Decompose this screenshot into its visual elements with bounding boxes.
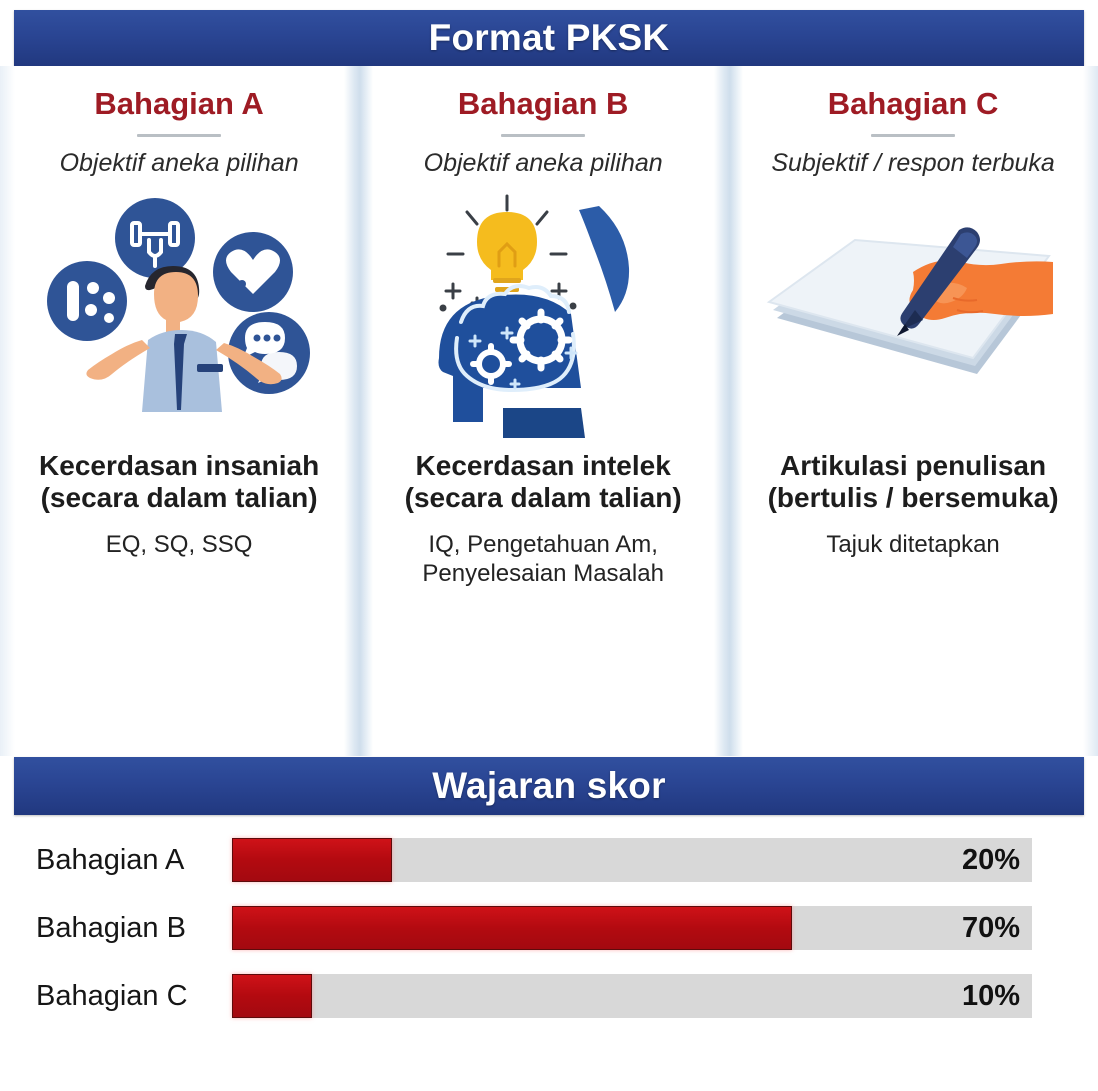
column-c-divider [871,134,955,137]
wajaran-skor-banner: Wajaran skor [14,757,1084,815]
left-edge-gradient [0,66,15,756]
column-b-note: IQ, Pengetahuan Am, Penyelesaian Masalah [387,531,700,589]
column-a-note: EQ, SQ, SSQ [29,531,330,560]
person-with-skill-icons-icon [29,188,329,438]
bar-row: Bahagian C 10% [0,972,1098,1020]
column-c-illustration [757,182,1070,444]
column-bahagian-c: Bahagian C Subjektif / respon terbuka [743,66,1084,756]
format-columns: Bahagian A Objektif aneka pilihan [0,66,1098,756]
bar-value-a: 20% [962,838,1020,882]
column-b-divider [501,134,585,137]
bar-label-a: Bahagian A [36,844,232,877]
bar-row: Bahagian A 20% [0,836,1098,884]
page-title: Format PKSK [429,17,670,59]
column-b-heading: Kecerdasan intelek (secara dalam talian) [387,450,700,516]
hand-writing-on-paper-icon [763,198,1063,428]
bar-fill-c [232,974,312,1018]
column-a-heading: Kecerdasan insaniah (secara dalam talian… [29,450,330,516]
bar-row: Bahagian B 70% [0,904,1098,952]
column-c-note: Tajuk ditetapkan [757,531,1070,560]
title-banner: Format PKSK [14,10,1084,66]
bar-track-b: 70% [232,906,1032,950]
bar-value-c: 10% [962,974,1020,1018]
column-c-subtitle: Subjektif / respon terbuka [757,148,1070,178]
bar-label-b: Bahagian B [36,912,232,945]
column-a-illustration [29,182,330,444]
gutter-a-b [344,66,373,756]
column-b-subtitle: Objektif aneka pilihan [387,148,700,178]
column-c-heading: Artikulasi penulisan (bertulis / bersemu… [757,450,1070,516]
column-c-title: Bahagian C [757,88,1070,121]
wajaran-skor-title: Wajaran skor [432,765,665,807]
head-brain-gears-lightbulb-icon [403,188,683,438]
column-a-divider [137,134,221,137]
bar-value-b: 70% [962,906,1020,950]
bar-track-a: 20% [232,838,1032,882]
gutter-b-c [714,66,743,756]
column-bahagian-b: Bahagian B Objektif aneka pilihan [373,66,714,756]
bar-track-c: 10% [232,974,1032,1018]
right-edge-gradient [1083,66,1098,756]
bar-fill-a [232,838,392,882]
bar-label-c: Bahagian C [36,980,232,1013]
column-bahagian-a: Bahagian A Objektif aneka pilihan [15,66,344,756]
column-b-illustration [387,182,700,444]
wajaran-skor-chart: Bahagian A 20% Bahagian B 70% Bahagian C… [0,836,1098,1040]
column-a-subtitle: Objektif aneka pilihan [29,148,330,178]
bar-fill-b [232,906,792,950]
column-a-title: Bahagian A [29,88,330,121]
column-b-title: Bahagian B [387,88,700,121]
